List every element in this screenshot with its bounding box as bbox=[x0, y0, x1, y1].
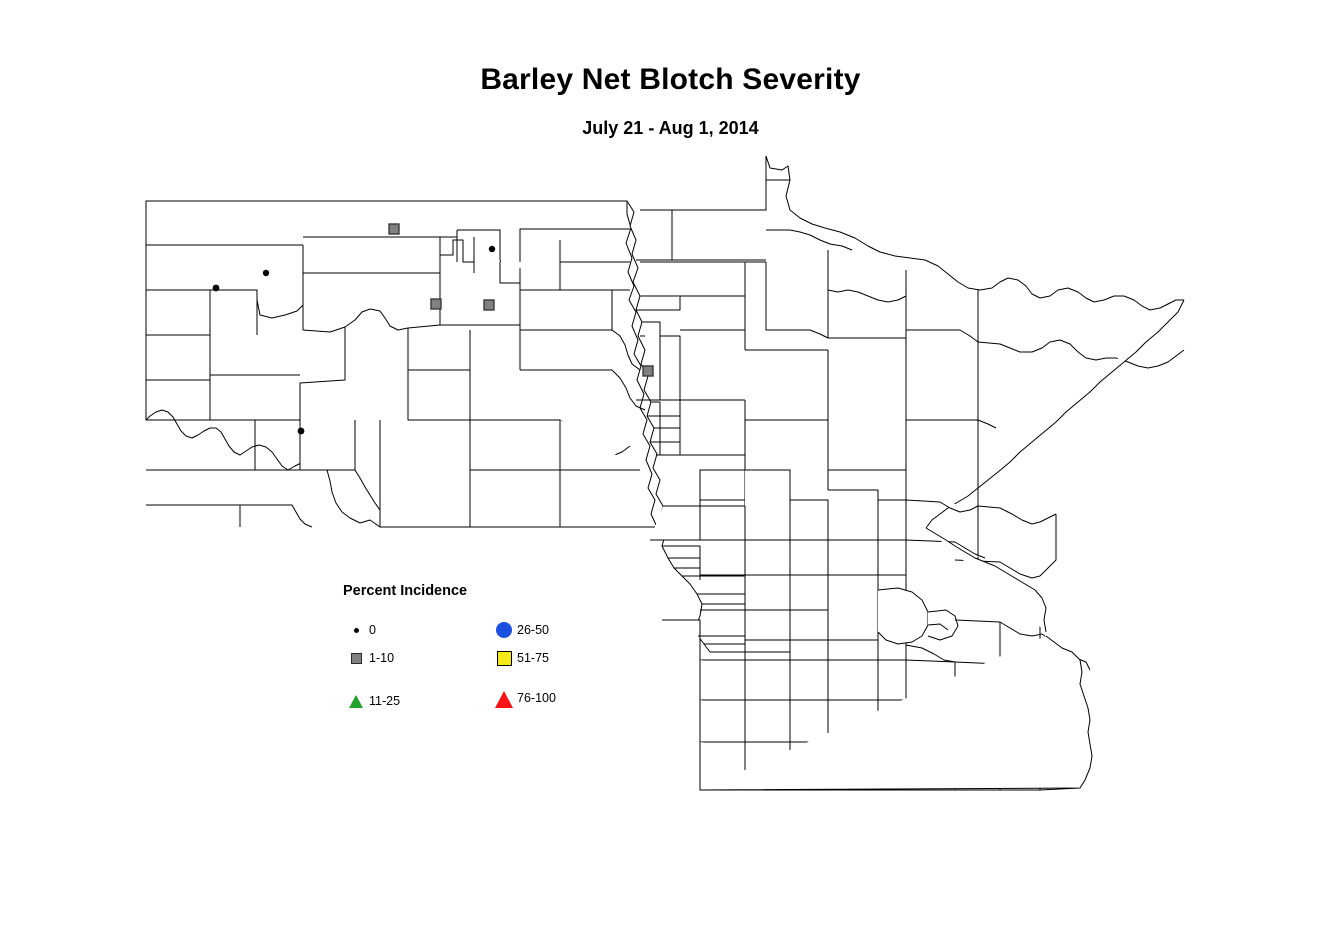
legend-label: 76-100 bbox=[517, 691, 556, 705]
legend-label: 0 bbox=[369, 623, 376, 637]
legend-triangle-icon bbox=[343, 695, 369, 708]
north-dakota-counties bbox=[146, 201, 657, 527]
legend-item-0[interactable]: 0 bbox=[343, 616, 491, 644]
legend-column-right: 26-50 51-75 76-100 bbox=[491, 616, 556, 708]
legend-item-11-25[interactable]: 11-25 bbox=[343, 672, 491, 708]
marker-dot-0 bbox=[263, 270, 269, 276]
legend-item-1-10[interactable]: 1-10 bbox=[343, 644, 491, 672]
minnesota-counties bbox=[627, 156, 1184, 790]
legend-columns: 0 1-10 11-25 26-50 51-75 bbox=[343, 616, 573, 708]
map-figure: Barley Net Blotch Severity July 21 - Aug… bbox=[0, 0, 1341, 926]
legend-square-icon bbox=[343, 653, 369, 664]
legend-triangle-icon bbox=[491, 691, 517, 708]
legend-item-26-50[interactable]: 26-50 bbox=[491, 616, 556, 644]
marker-square-1-10 bbox=[643, 366, 653, 376]
legend-item-51-75[interactable]: 51-75 bbox=[491, 644, 556, 672]
legend-label: 1-10 bbox=[369, 651, 394, 665]
legend-label: 51-75 bbox=[517, 651, 549, 665]
marker-dot-0 bbox=[298, 428, 305, 435]
legend-dot-icon bbox=[343, 628, 369, 633]
legend-label: 11-25 bbox=[369, 694, 400, 708]
legend-square-icon bbox=[491, 651, 517, 666]
legend-label: 26-50 bbox=[517, 623, 549, 637]
legend-column-left: 0 1-10 11-25 bbox=[343, 616, 491, 708]
map-legend: Percent Incidence 0 1-10 11-25 bbox=[343, 583, 573, 708]
marker-square-1-10 bbox=[389, 224, 399, 234]
marker-square-1-10 bbox=[431, 299, 441, 309]
marker-dot-0 bbox=[489, 246, 495, 252]
marker-dot-0 bbox=[213, 285, 220, 292]
county-map bbox=[0, 0, 1341, 926]
legend-circle-icon bbox=[491, 622, 517, 638]
legend-item-76-100[interactable]: 76-100 bbox=[491, 672, 556, 708]
marker-square-1-10 bbox=[484, 300, 494, 310]
legend-title: Percent Incidence bbox=[343, 583, 573, 599]
